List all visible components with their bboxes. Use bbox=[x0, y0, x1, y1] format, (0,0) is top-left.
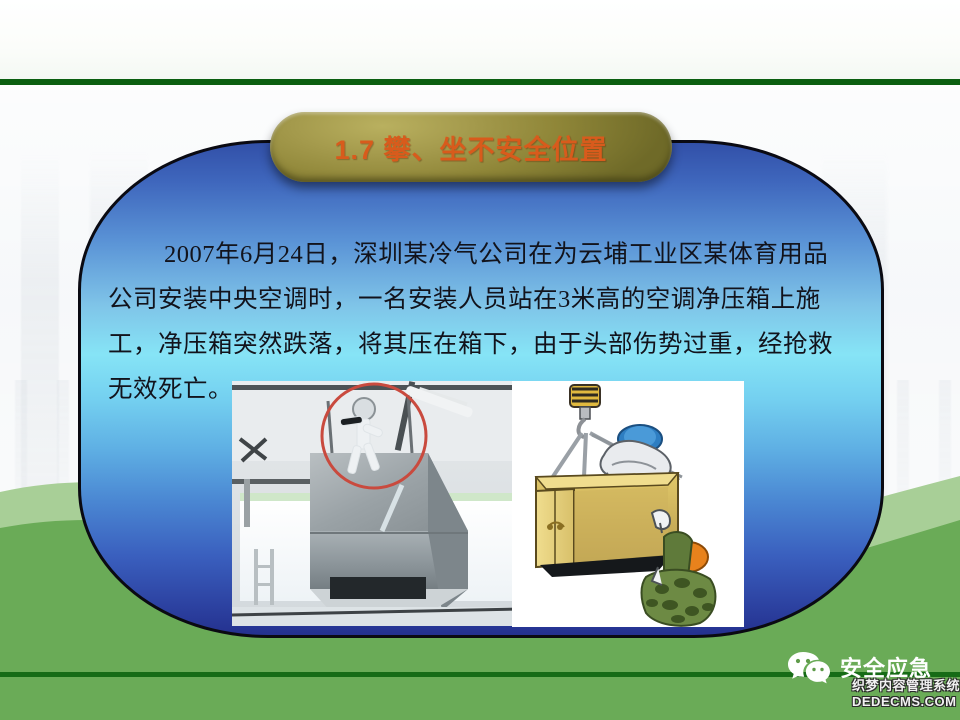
slide-root: 1.7 攀、坐不安全位置 2007年6月24日，深圳某冷气公司在为云埔工业区某体… bbox=[0, 0, 960, 720]
accident-photo-plenum-box bbox=[232, 381, 520, 626]
wechat-icon bbox=[788, 650, 830, 684]
slide-header-band bbox=[0, 0, 960, 79]
illustration-riding-hoisted-load bbox=[512, 381, 744, 627]
watermark-line-2: DEDECMS.COM bbox=[852, 694, 960, 710]
slide-title-banner: 1.7 攀、坐不安全位置 bbox=[270, 112, 672, 182]
watermark: 织梦内容管理系统 DEDECMS.COM bbox=[852, 678, 960, 710]
watermark-line-1: 织梦内容管理系统 bbox=[852, 678, 960, 694]
page-title: 1.7 攀、坐不安全位置 bbox=[334, 128, 607, 167]
